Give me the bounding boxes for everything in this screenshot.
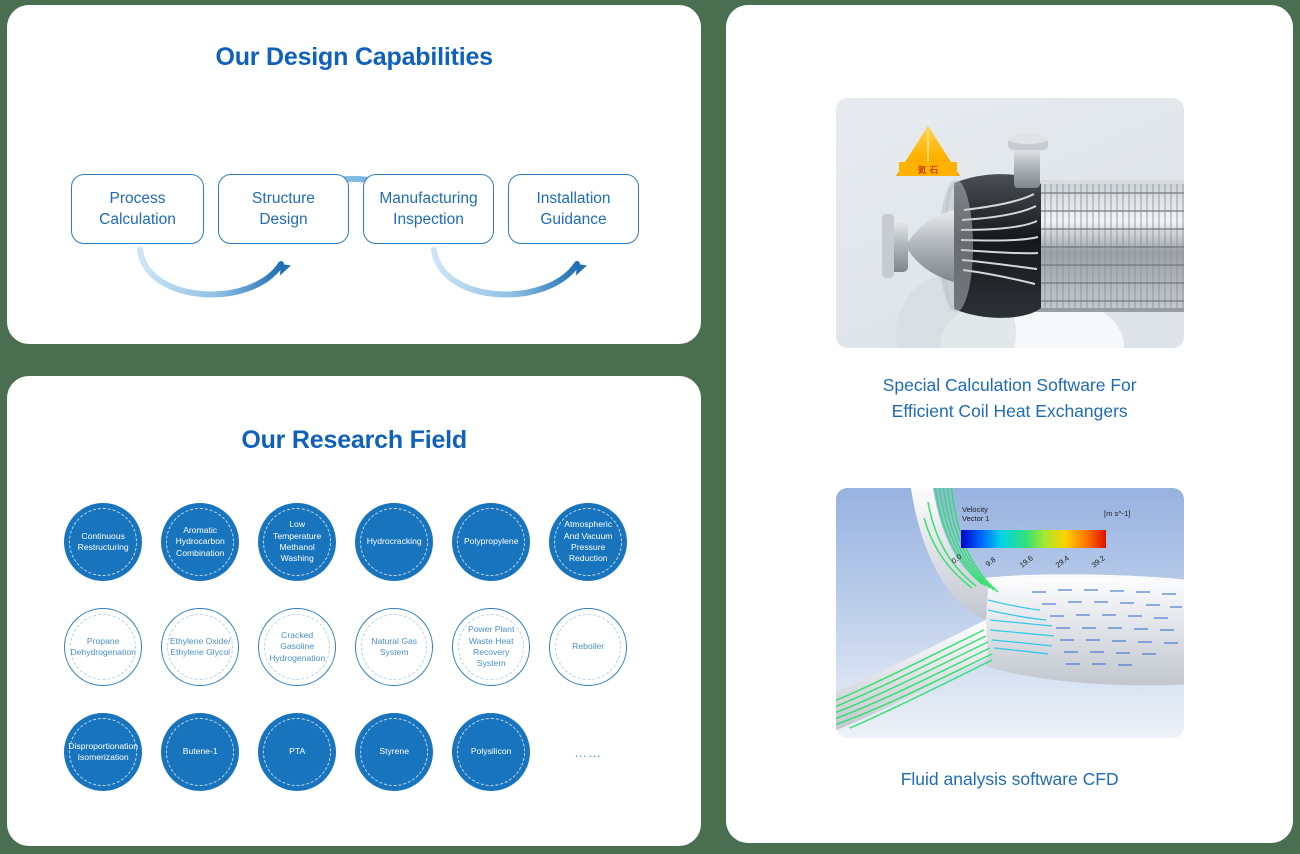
flow-step-list: Process Calculation Structure Design Man…: [71, 174, 639, 244]
design-section-title: Our Design Capabilities: [7, 43, 701, 72]
svg-text:Vector 1: Vector 1: [962, 514, 990, 523]
research-topic-label: Continuous Restructuring: [78, 531, 129, 554]
flow-step-installation-guidance[interactable]: Installation Guidance: [508, 174, 639, 244]
flow-step-structure-design[interactable]: Structure Design: [218, 174, 349, 244]
research-topic-natural-gas-system[interactable]: Natural Gas System: [355, 608, 433, 686]
research-topic-cracked-gasoline-hydrogenation[interactable]: Cracked Gasoline Hydrogenation: [258, 608, 336, 686]
research-topic-label: Polypropylene: [464, 536, 518, 547]
research-topic-propane-dehydrogenation[interactable]: Propane Dehydrogenation: [64, 608, 142, 686]
research-topic-styrene[interactable]: Styrene: [355, 713, 433, 791]
research-topic-grid: Continuous Restructuring Aromatic Hydroc…: [64, 503, 644, 791]
research-topic-pta[interactable]: PTA: [258, 713, 336, 791]
research-topic-polypropylene[interactable]: Polypropylene: [452, 503, 530, 581]
media-item-cfd: Velocity Vector 1 [m s^-1] 0.0 9.8 19.6 …: [836, 488, 1184, 792]
research-topic-low-temperature-methanol-washing[interactable]: Low Temperature Methanol Washing: [258, 503, 336, 581]
research-topic-continuous-restructuring[interactable]: Continuous Restructuring: [64, 503, 142, 581]
research-topic-aromatic-hydrocarbon-combination[interactable]: Aromatic Hydrocarbon Combination: [161, 503, 239, 581]
research-section-title: Our Research Field: [7, 426, 701, 455]
right-column: 氦 石 Special Calculation Software For Eff…: [726, 5, 1293, 846]
cfd-velocity-vector-plot[interactable]: Velocity Vector 1 [m s^-1] 0.0 9.8 19.6 …: [836, 488, 1184, 738]
page-root: Our Design Capabilities: [0, 0, 1300, 854]
flow-step-manufacturing-inspection[interactable]: Manufacturing Inspection: [363, 174, 494, 244]
research-topic-power-plant-waste-heat-recovery-system[interactable]: Power Plant Waste Heat Recovery System: [452, 608, 530, 686]
research-more-indicator: ……: [549, 713, 627, 791]
svg-text:氦 石: 氦 石: [917, 164, 938, 176]
research-topic-label: Ethylene Oxide/ Ethylene Glycol: [170, 636, 231, 659]
media-caption-heat-exchanger: Special Calculation Software For Efficie…: [836, 372, 1184, 424]
research-topic-atmospheric-and-vacuum-pressure-reduction[interactable]: Atmospheric And Vacuum Pressure Reductio…: [549, 503, 627, 581]
research-topic-label: Propane Dehydrogenation: [70, 636, 135, 659]
research-topic-disproportionation-isomerization[interactable]: Disproportionation Isomerization: [64, 713, 142, 791]
svg-text:[m s^-1]: [m s^-1]: [1104, 509, 1130, 518]
research-topic-label: Atmospheric And Vacuum Pressure Reductio…: [564, 519, 613, 565]
flow-step-process-calculation[interactable]: Process Calculation: [71, 174, 204, 244]
research-topic-butene-1[interactable]: Butene-1: [161, 713, 239, 791]
research-topic-polysilicon[interactable]: Polysilicon: [452, 713, 530, 791]
research-topic-label: Power Plant Waste Heat Recovery System: [468, 624, 514, 670]
research-topic-label: Styrene: [379, 746, 409, 757]
design-capabilities-card: Our Design Capabilities: [7, 5, 701, 344]
research-topic-ethylene-oxide-ethylene-glycol[interactable]: Ethylene Oxide/ Ethylene Glycol: [161, 608, 239, 686]
research-topic-label: Disproportionation Isomerization: [68, 741, 138, 764]
media-caption-cfd: Fluid analysis software CFD: [836, 766, 1184, 792]
research-topic-label: Polysilicon: [471, 746, 512, 757]
research-topic-label: Cracked Gasoline Hydrogenation: [269, 630, 325, 664]
media-item-heat-exchanger: 氦 石 Special Calculation Software For Eff…: [836, 98, 1184, 424]
research-topic-label: Hydrocracking: [367, 536, 422, 547]
research-topic-label: Reboiler: [572, 641, 604, 652]
research-topic-reboiler[interactable]: Reboiler: [549, 608, 627, 686]
research-topic-label: Aromatic Hydrocarbon Combination: [176, 525, 225, 559]
coil-heat-exchanger-render[interactable]: 氦 石: [836, 98, 1184, 348]
software-showcase-card: 氦 石 Special Calculation Software For Eff…: [726, 5, 1293, 843]
research-topic-label: Natural Gas System: [371, 636, 417, 659]
research-topic-label: Butene-1: [183, 746, 218, 757]
left-column: Our Design Capabilities: [7, 5, 701, 846]
research-field-card: Our Research Field Continuous Restructur…: [7, 376, 701, 846]
svg-text:Velocity: Velocity: [962, 505, 988, 514]
process-flow-diagram: Process Calculation Structure Design Man…: [7, 116, 701, 301]
research-topic-label: Low Temperature Methanol Washing: [273, 519, 321, 565]
research-topic-hydrocracking[interactable]: Hydrocracking: [355, 503, 433, 581]
research-topic-label: PTA: [289, 746, 305, 757]
